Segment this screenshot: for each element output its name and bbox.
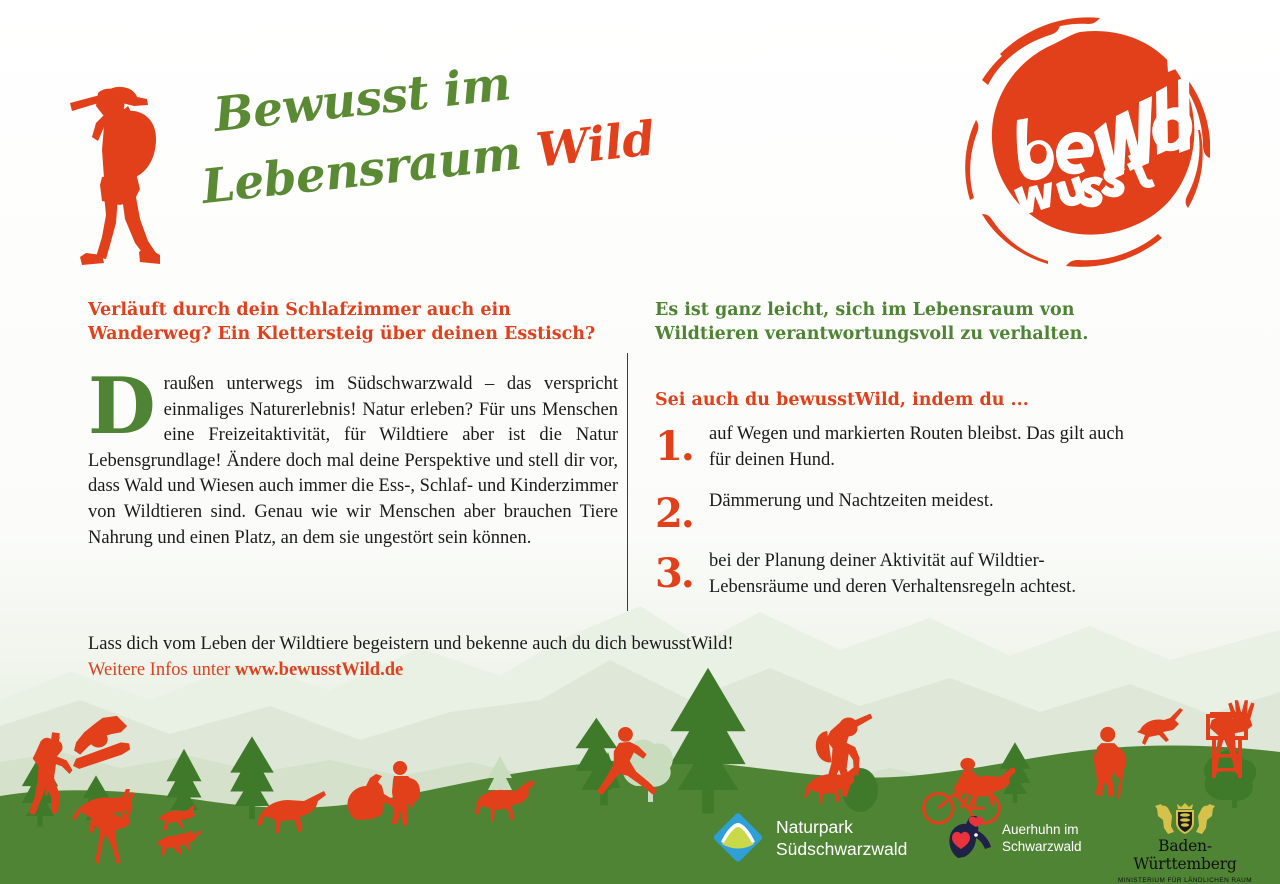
left-lede: Verläuft durch dein Schlafzimmer auch ei…: [88, 298, 618, 346]
bewusstwild-logo-badge[interactable]: [952, 14, 1210, 276]
baden-wuerttemberg-name: Baden-Württemberg: [1115, 837, 1255, 873]
rule-number: 1.: [655, 416, 709, 466]
left-body-paragraph: raußen unterwegs im Südschwarzwald – das…: [88, 374, 618, 548]
auerhuhn-line-2: Schwarzwald: [1002, 838, 1082, 855]
rules-list: 1. auf Wegen und markierten Routen bleib…: [655, 416, 1125, 600]
website-link[interactable]: www.bewusstWild.de: [235, 660, 403, 680]
rule-number: 3.: [655, 543, 709, 593]
naturpark-diamond-icon: [710, 810, 766, 866]
baden-wuerttemberg-subtitle: MINISTERIUM FÜR LÄNDLICHEN RAUM UND VERB…: [1115, 876, 1255, 884]
auerhuhn-logo[interactable]: Auerhuhn im Schwarzwald: [948, 816, 1082, 860]
naturpark-line-1: Naturpark: [776, 816, 907, 838]
list-item: 1. auf Wegen und markierten Routen bleib…: [655, 416, 1125, 473]
closing-prefix: Weitere Infos unter: [88, 660, 235, 680]
left-body-text: Draußen unterwegs im Südschwarzwald – da…: [88, 372, 618, 551]
title-line-2-orange: Wild: [533, 111, 657, 178]
naturpark-logo[interactable]: Naturpark Südschwarzwald: [710, 810, 907, 866]
naturpark-line-2: Südschwarzwald: [776, 838, 907, 860]
auerhuhn-line-1: Auerhuhn im: [1002, 821, 1082, 838]
rules-heading: Sei auch du bewusstWild, indem du ...: [655, 390, 1125, 410]
closing-line-2: Weitere Infos unter www.bewusstWild.de: [88, 658, 988, 684]
baden-wuerttemberg-logo[interactable]: Baden-Württemberg MINISTERIUM FÜR LÄNDLI…: [1115, 802, 1255, 884]
dropcap-letter: D: [88, 376, 156, 438]
rule-text: bei der Planung deiner Aktivität auf Wil…: [709, 543, 1125, 600]
left-column: Verläuft durch dein Schlafzimmer auch ei…: [88, 298, 618, 551]
list-item: 3. bei der Planung deiner Aktivität auf …: [655, 543, 1125, 600]
closing-line-1: Lass dich vom Leben der Wildtiere begeis…: [88, 632, 988, 658]
footer-logos: Naturpark Südschwarzwald Auerhuhn im Sch…: [700, 800, 1260, 884]
hiker-with-binoculars-icon: [60, 85, 192, 267]
poster-title: Bewusst im Lebensraum Wild: [205, 88, 725, 238]
baden-wuerttemberg-coat-of-arms-icon: [1153, 802, 1217, 836]
right-column: Es ist ganz leicht, sich im Lebensraum v…: [655, 298, 1125, 610]
rule-text: Dämmerung und Nachtzeiten meidest.: [709, 483, 994, 515]
rule-number: 2.: [655, 483, 709, 533]
naturpark-text: Naturpark Südschwarzwald: [776, 816, 907, 860]
column-divider: [627, 353, 628, 611]
auerhuhn-text: Auerhuhn im Schwarzwald: [1002, 821, 1082, 855]
list-item: 2. Dämmerung und Nachtzeiten meidest.: [655, 483, 1125, 533]
rule-text: auf Wegen und markierten Routen bleibst.…: [709, 416, 1125, 473]
capercaillie-heart-icon: [948, 816, 994, 860]
right-lede: Es ist ganz leicht, sich im Lebensraum v…: [655, 298, 1125, 346]
closing-block: Lass dich vom Leben der Wildtiere begeis…: [88, 632, 988, 683]
poster-root: Bewusst im Lebensraum Wild: [0, 0, 1280, 884]
